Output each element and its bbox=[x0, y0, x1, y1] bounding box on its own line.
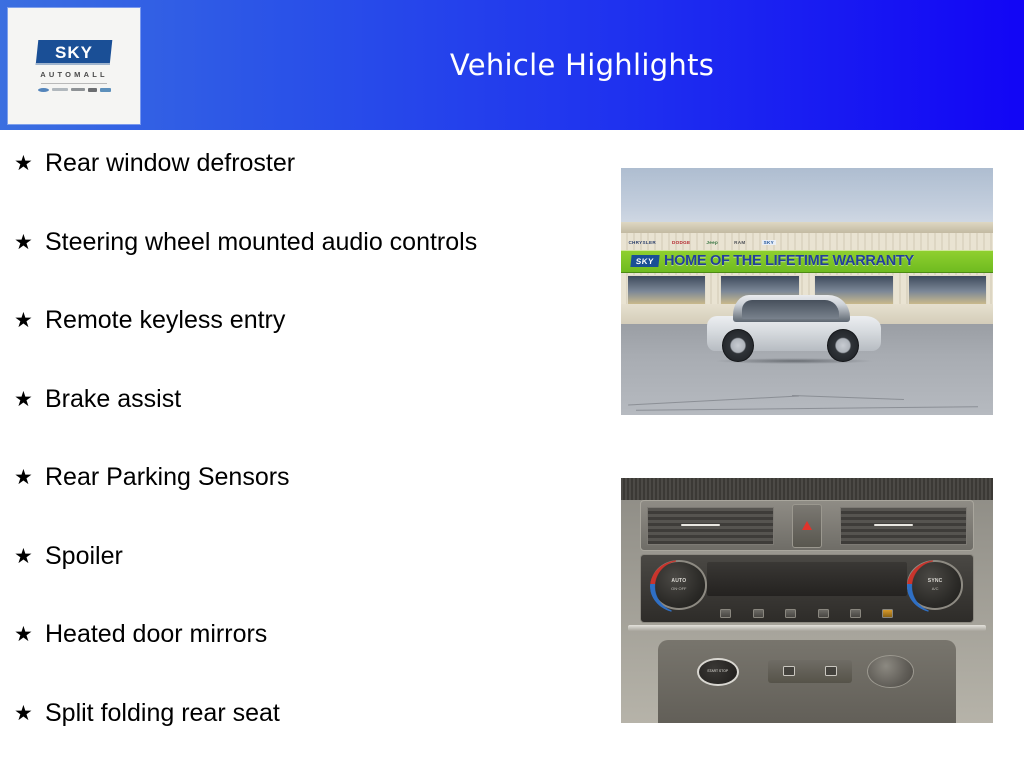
photo-brand-ram: RAM bbox=[734, 240, 745, 245]
feature-label: Rear window defroster bbox=[45, 146, 295, 180]
brand-mark-chrysler-icon bbox=[52, 88, 68, 91]
star-bullet-icon: ★ bbox=[14, 617, 45, 651]
photo-brand-chrysler: CHRYSLER bbox=[628, 240, 656, 245]
photo-warranty-banner: SKY HOME OF THE LIFETIME WARRANTY bbox=[621, 250, 993, 273]
photo-pavement-crack bbox=[636, 406, 978, 411]
list-item: ★ Split folding rear seat bbox=[0, 696, 610, 774]
sky-logo-badge: SKY bbox=[36, 40, 113, 65]
fan-icon bbox=[785, 609, 796, 618]
photo-pavement-crack bbox=[792, 395, 904, 400]
feature-label: Rear Parking Sensors bbox=[45, 460, 290, 494]
photo-vent-slider-right bbox=[874, 524, 914, 527]
photo-suv-front-wheel bbox=[722, 329, 754, 362]
list-item: ★ Heated door mirrors bbox=[0, 617, 610, 696]
recirculate-icon bbox=[850, 609, 861, 618]
photo-climate-dial-right: SYNC A/C bbox=[907, 560, 964, 609]
front-defroster-icon bbox=[753, 609, 764, 618]
photo-air-vent-right bbox=[840, 507, 966, 545]
star-bullet-icon: ★ bbox=[14, 460, 45, 494]
brand-mark-ram-icon bbox=[100, 88, 111, 92]
sky-logo-text: SKY bbox=[55, 44, 93, 61]
photo-climate-button-row bbox=[720, 608, 893, 619]
photo-window bbox=[627, 275, 706, 305]
photo-air-vent-left bbox=[647, 507, 773, 545]
star-bullet-icon: ★ bbox=[14, 539, 45, 573]
brand-mark-dodge-icon bbox=[71, 88, 85, 91]
photo-hazard-button bbox=[792, 504, 822, 548]
list-item: ★ Brake assist bbox=[0, 382, 610, 461]
logo-divider bbox=[41, 83, 107, 84]
brand-mark-ford-icon bbox=[38, 88, 49, 92]
slide: SKY AUTOMALL Vehicle Highlights ★ Rear w… bbox=[0, 0, 1024, 768]
vehicle-exterior-photo: CHRYSLER DODGE Jeep RAM SKY SKY HOME OF … bbox=[621, 168, 993, 415]
header-bar: SKY AUTOMALL Vehicle Highlights bbox=[0, 0, 1024, 130]
photo-brand-sky: SKY bbox=[762, 240, 776, 245]
airflow-icon bbox=[818, 609, 829, 618]
photo-pavement-crack bbox=[629, 396, 800, 406]
photo-window bbox=[908, 275, 987, 305]
feature-label: Brake assist bbox=[45, 382, 181, 416]
photo-climate-control-panel: AUTO ON·OFF SYNC A/C bbox=[640, 554, 975, 623]
list-item: ★ Rear Parking Sensors bbox=[0, 460, 610, 539]
photo-dial-onoff-label: ON·OFF bbox=[671, 586, 686, 591]
photo-chrome-trim bbox=[628, 625, 985, 631]
automall-text: AUTOMALL bbox=[40, 70, 108, 79]
photo-suv-windows bbox=[742, 300, 840, 319]
photo-start-stop-button: START STOP bbox=[697, 658, 739, 686]
star-bullet-icon: ★ bbox=[14, 146, 45, 180]
photo-usb-port-panel bbox=[768, 660, 851, 683]
photo-dash-speaker-grille bbox=[621, 478, 993, 500]
photo-dial-sync-label: SYNC bbox=[928, 578, 943, 584]
feature-label: Spoiler bbox=[45, 539, 123, 573]
star-bullet-icon: ★ bbox=[14, 382, 45, 416]
photo-brand-jeep: Jeep bbox=[706, 240, 718, 245]
feature-label: Steering wheel mounted audio controls bbox=[45, 225, 477, 259]
usb-port-icon bbox=[825, 666, 837, 676]
photo-start-stop-label: START STOP bbox=[707, 670, 728, 674]
page-title: Vehicle Highlights bbox=[140, 0, 1024, 130]
photo-banner-sky-badge: SKY bbox=[630, 255, 659, 267]
star-bullet-icon: ★ bbox=[14, 225, 45, 259]
photo-vent-slider-left bbox=[681, 524, 721, 527]
photo-vent-assembly bbox=[640, 500, 975, 551]
dealer-logo: SKY AUTOMALL bbox=[8, 8, 140, 124]
star-bullet-icon: ★ bbox=[14, 696, 45, 730]
logo-brand-strip bbox=[38, 87, 111, 93]
photo-suv bbox=[707, 296, 882, 363]
list-item: ★ Remote keyless entry bbox=[0, 303, 610, 382]
photo-suv-rear-wheel bbox=[827, 329, 859, 362]
usb-port-icon bbox=[783, 666, 795, 676]
list-item: ★ Spoiler bbox=[0, 539, 610, 618]
photo-dial-auto-label: AUTO bbox=[671, 578, 686, 584]
rear-defroster-icon bbox=[720, 609, 731, 618]
photo-dial-ac-label: A/C bbox=[932, 586, 939, 591]
list-item: ★ Steering wheel mounted audio controls bbox=[0, 225, 610, 304]
photo-brand-dodge: DODGE bbox=[672, 240, 690, 245]
photo-climate-display bbox=[707, 562, 907, 597]
feature-label: Remote keyless entry bbox=[45, 303, 285, 337]
feature-list: ★ Rear window defroster ★ Steering wheel… bbox=[0, 146, 610, 761]
brand-mark-jeep-icon bbox=[88, 88, 97, 92]
hazard-triangle-icon bbox=[802, 521, 812, 530]
vehicle-interior-photo: AUTO ON·OFF SYNC A/C bbox=[621, 478, 993, 723]
feature-label: Heated door mirrors bbox=[45, 617, 267, 651]
photo-center-console: START STOP bbox=[658, 640, 956, 723]
photo-climate-dial-left: AUTO ON·OFF bbox=[651, 560, 708, 609]
photo-console-knob bbox=[867, 655, 915, 688]
star-bullet-icon: ★ bbox=[14, 303, 45, 337]
photo-banner-text: HOME OF THE LIFETIME WARRANTY bbox=[664, 253, 914, 269]
feature-label: Split folding rear seat bbox=[45, 696, 280, 730]
photo-brand-logo-row: CHRYSLER DODGE Jeep RAM SKY bbox=[628, 236, 985, 248]
heated-seat-icon bbox=[882, 609, 893, 618]
list-item: ★ Rear window defroster bbox=[0, 146, 610, 225]
